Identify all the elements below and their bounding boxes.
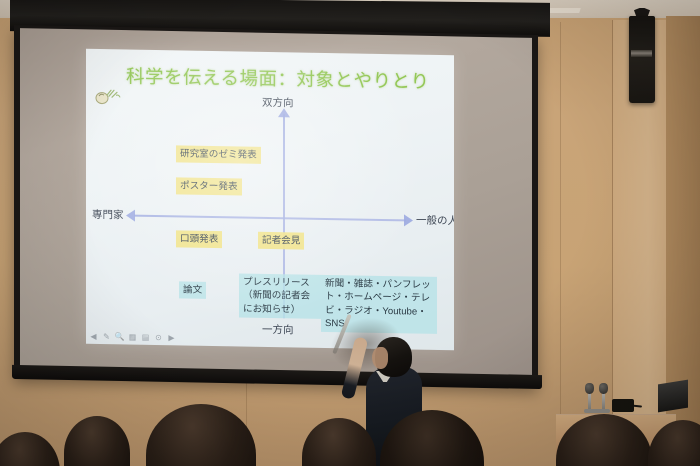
lecture-hall-scene: 科学を伝える場面：対象とやりとり 双方向 一方向 専門家 一般の人 研究室のゼミ… [0, 0, 700, 466]
presenter-view-icon[interactable]: ▤ [141, 333, 150, 342]
tag-oral-presentation: 口頭発表 [176, 230, 222, 247]
microphone-head-icon [599, 383, 608, 394]
podium-equipment-box [612, 399, 634, 412]
ceiling-speaker [629, 16, 655, 103]
slide-title: 科学を伝える場面：対象とやりとり [126, 62, 429, 93]
axis-horizontal [134, 215, 406, 222]
tag-press-conference: 記者会見 [258, 232, 304, 249]
slide-doodle-logo [92, 82, 126, 107]
tag-poster-presentation: ポスター発表 [176, 177, 242, 195]
tag-paper: 論文 [179, 281, 206, 298]
microphone-head-icon [585, 383, 594, 394]
options-icon[interactable]: ⊙ [154, 333, 163, 342]
wall-seam [560, 22, 561, 442]
tag-lab-seminar: 研究室のゼミ発表 [176, 145, 261, 163]
speaker-grill [631, 50, 652, 57]
pen-icon[interactable]: ✎ [102, 332, 111, 341]
axis-label-top: 双方向 [262, 95, 294, 111]
axis-label-bottom: 一方向 [262, 322, 294, 338]
axis-label-right: 一般の人 [416, 213, 454, 229]
next-icon[interactable]: ▶ [167, 333, 176, 342]
projected-slide[interactable]: 科学を伝える場面：対象とやりとり 双方向 一方向 専門家 一般の人 研究室のゼミ… [86, 49, 454, 350]
microphone-base [584, 409, 610, 413]
tag-press-release: プレスリリース（新聞の記者会にお知らせ） [239, 273, 321, 318]
podium-laptop [658, 380, 688, 413]
previous-icon[interactable]: ◀ [89, 332, 98, 341]
slides-icon[interactable]: ▦ [128, 333, 137, 342]
zoom-icon[interactable]: 🔍 [115, 332, 124, 341]
axis-label-left: 専門家 [92, 207, 124, 223]
axis-left-arrowhead-icon [126, 209, 135, 221]
presenter-face [372, 347, 388, 369]
powerpoint-presenter-toolbar[interactable]: ◀ ✎ 🔍 ▦ ▤ ⊙ ▶ [89, 332, 176, 343]
axis-right-arrowhead-icon [404, 214, 413, 226]
